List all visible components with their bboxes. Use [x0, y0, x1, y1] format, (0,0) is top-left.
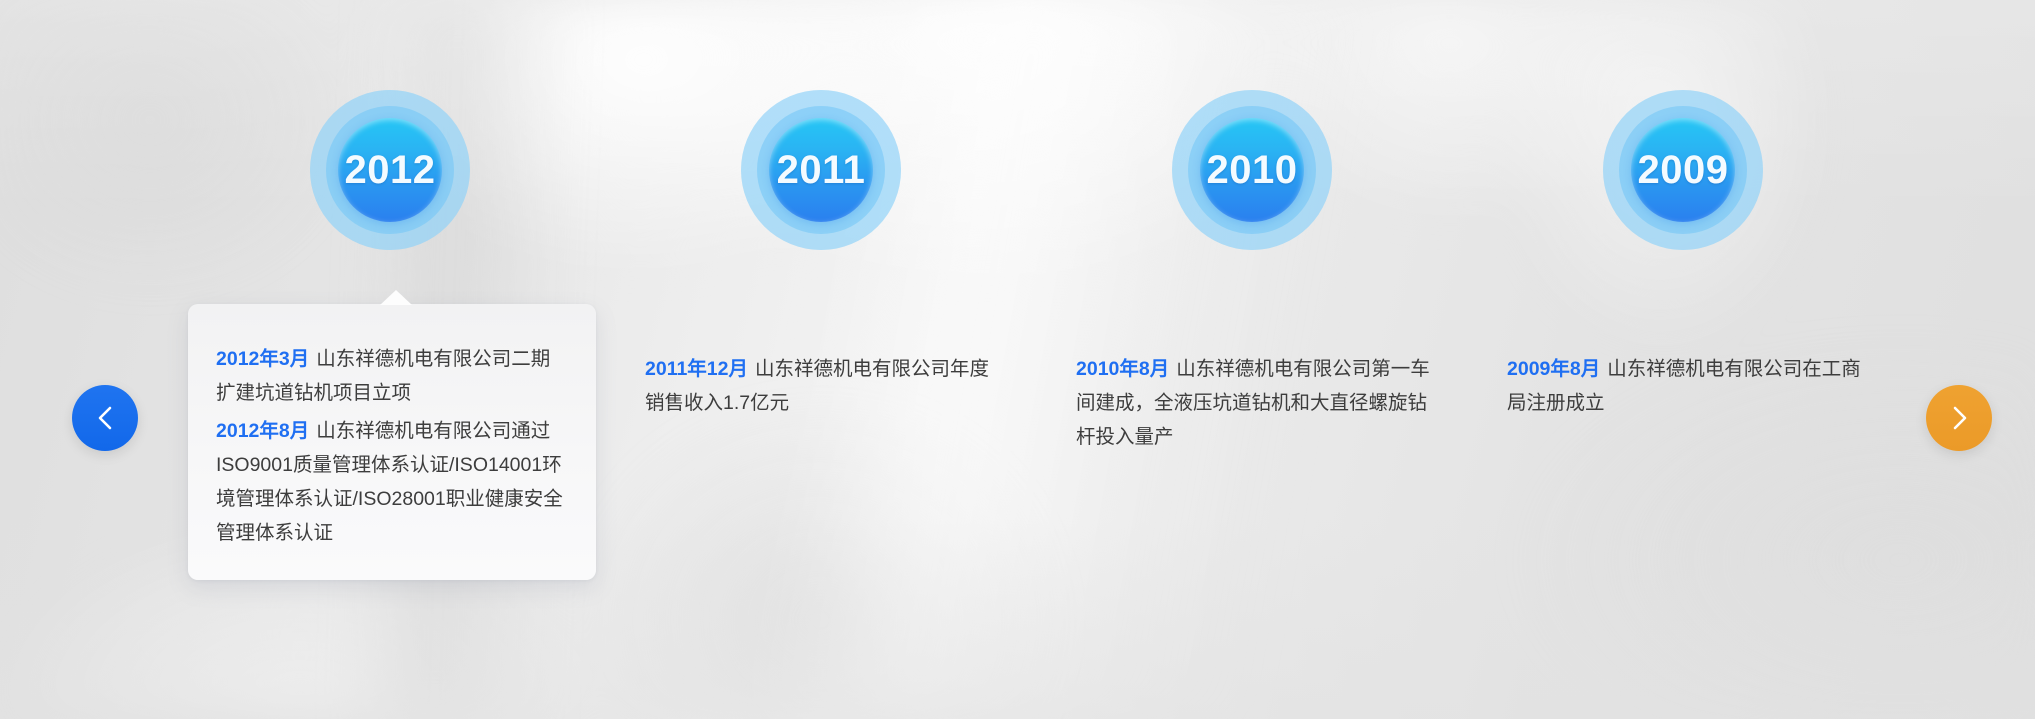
year-label-2012: 2012: [345, 148, 436, 193]
event-item: 2009年8月山东祥德机电有限公司在工商局注册成立: [1507, 352, 1877, 420]
event-date: 2011年12月: [645, 358, 748, 380]
event-item: 2010年8月山东祥德机电有限公司第一车间建成，全液压坑道钻机和大直径螺旋钻杆投…: [1076, 352, 1446, 454]
card-pointer-arrow-icon: [380, 290, 412, 305]
year-label-2011: 2011: [777, 148, 866, 193]
timeline-stage: 2012 2012年3月山东祥德机电有限公司二期扩建坑道钻机项目立项 2012年…: [0, 0, 2035, 719]
event-item: 2012年8月山东祥德机电有限公司通过ISO9001质量管理体系认证/ISO14…: [216, 414, 568, 550]
year-marker-2009[interactable]: 2009: [1603, 90, 1763, 250]
event-date: 2012年8月: [216, 420, 309, 442]
event-date: 2010年8月: [1076, 358, 1169, 380]
prev-button[interactable]: [72, 385, 138, 451]
history-timeline: 2012 2012年3月山东祥德机电有限公司二期扩建坑道钻机项目立项 2012年…: [0, 0, 2035, 719]
event-date: 2012年3月: [216, 348, 309, 370]
event-date: 2009年8月: [1507, 358, 1600, 380]
event-item: 2012年3月山东祥德机电有限公司二期扩建坑道钻机项目立项: [216, 342, 568, 410]
year-marker-2012[interactable]: 2012: [310, 90, 470, 250]
next-button[interactable]: [1926, 385, 1992, 451]
chevron-right-icon: [1947, 403, 1971, 433]
event-block-2010: 2010年8月山东祥德机电有限公司第一车间建成，全液压坑道钻机和大直径螺旋钻杆投…: [1076, 352, 1446, 454]
year-label-2009: 2009: [1638, 148, 1729, 193]
year-marker-2010[interactable]: 2010: [1172, 90, 1332, 250]
year-label-2010: 2010: [1207, 148, 1298, 193]
event-card-2012: 2012年3月山东祥德机电有限公司二期扩建坑道钻机项目立项 2012年8月山东祥…: [188, 304, 596, 580]
year-marker-2011[interactable]: 2011: [741, 90, 901, 250]
event-item: 2011年12月山东祥德机电有限公司年度销售收入1.7亿元: [645, 352, 1005, 420]
event-block-2009: 2009年8月山东祥德机电有限公司在工商局注册成立: [1507, 352, 1877, 420]
event-block-2011: 2011年12月山东祥德机电有限公司年度销售收入1.7亿元: [645, 352, 1005, 420]
chevron-left-icon: [93, 403, 117, 433]
